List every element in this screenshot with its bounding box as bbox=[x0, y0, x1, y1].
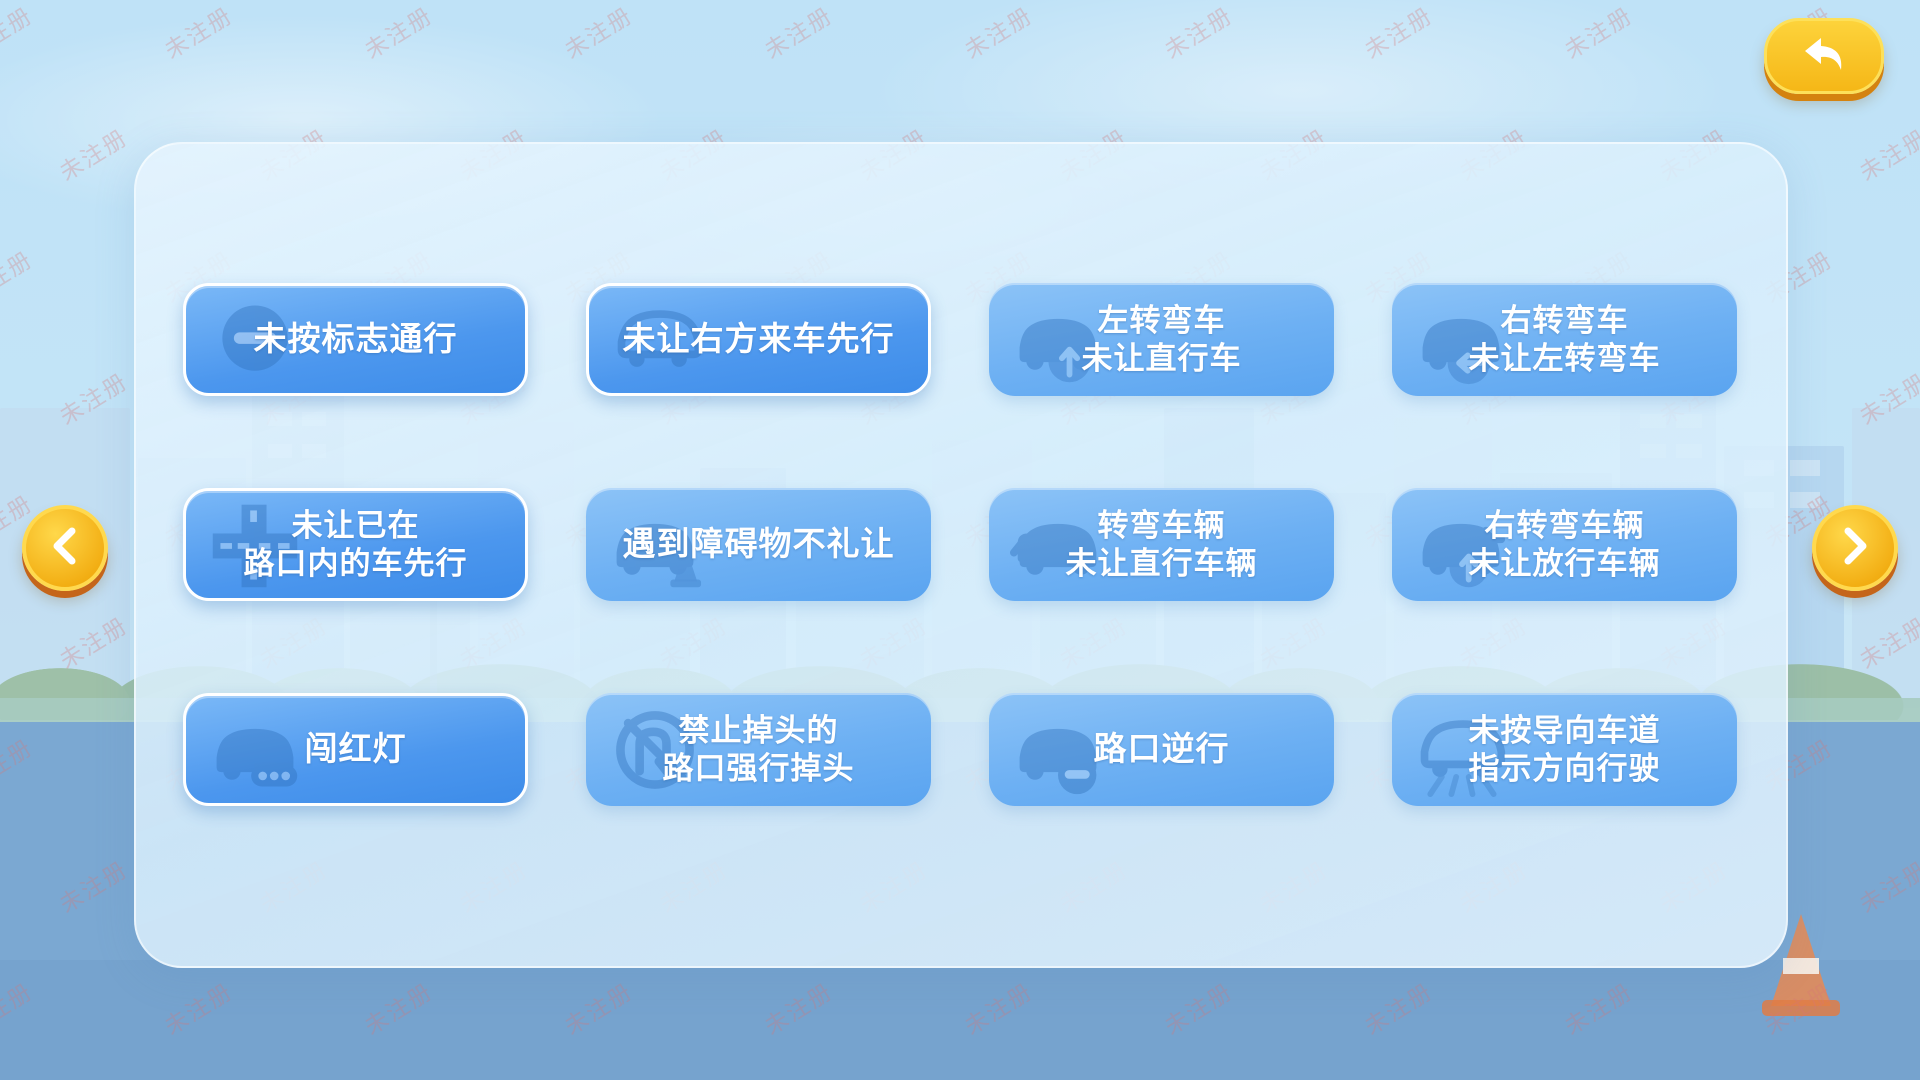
violation-tile-line: 指示方向行驶 bbox=[1469, 750, 1661, 788]
violation-tile-t7[interactable]: 转弯车辆未让直行车辆 bbox=[989, 488, 1334, 601]
violation-tile-line: 未让放行车辆 bbox=[1469, 545, 1661, 583]
violation-tile-label: 路口逆行 bbox=[1088, 729, 1236, 769]
violation-tile-line: 未让右方来车先行 bbox=[623, 319, 895, 359]
back-button[interactable] bbox=[1764, 18, 1884, 94]
violation-tile-label: 禁止掉头的路口强行掉头 bbox=[657, 712, 861, 788]
violation-tile-t11[interactable]: 路口逆行 bbox=[989, 693, 1334, 806]
violation-tile-t5[interactable]: 未让已在路口内的车先行 bbox=[183, 488, 528, 601]
violation-tile-line: 转弯车辆 bbox=[1066, 507, 1258, 545]
car-traffic-light-icon bbox=[196, 702, 314, 798]
violation-tile-line: 禁止掉头的 bbox=[663, 712, 855, 750]
violation-tile-t10[interactable]: 禁止掉头的路口强行掉头 bbox=[586, 693, 931, 806]
violation-tile-line: 闯红灯 bbox=[305, 729, 407, 769]
next-page-button[interactable] bbox=[1812, 505, 1898, 591]
violation-tile-line: 右转弯车辆 bbox=[1469, 507, 1661, 545]
violation-tile-label: 闯红灯 bbox=[299, 729, 413, 769]
violation-tile-line: 路口逆行 bbox=[1094, 729, 1230, 769]
chevron-right-icon bbox=[1838, 526, 1872, 571]
violation-tile-line: 未按标志通行 bbox=[254, 319, 458, 359]
violation-tile-line: 未让左转弯车 bbox=[1469, 340, 1661, 378]
violation-tile-line: 遇到障碍物不礼让 bbox=[623, 524, 895, 564]
violation-tile-line: 路口强行掉头 bbox=[663, 750, 855, 788]
violation-tile-t3[interactable]: 左转弯车未让直行车 bbox=[989, 283, 1334, 396]
chevron-left-icon bbox=[48, 526, 82, 571]
violation-tile-t1[interactable]: 未按标志通行 bbox=[183, 283, 528, 396]
violation-tile-label: 左转弯车未让直行车 bbox=[1076, 302, 1248, 378]
violation-tile-label: 未让已在路口内的车先行 bbox=[238, 507, 474, 583]
violation-tile-line: 路口内的车先行 bbox=[244, 545, 468, 583]
violation-tile-t2[interactable]: 未让右方来车先行 bbox=[586, 283, 931, 396]
violation-tile-t9[interactable]: 闯红灯 bbox=[183, 693, 528, 806]
violation-tile-label: 未按标志通行 bbox=[248, 319, 464, 359]
violation-tile-t8[interactable]: 右转弯车辆未让放行车辆 bbox=[1392, 488, 1737, 601]
violation-tile-line: 左转弯车 bbox=[1082, 302, 1242, 340]
violation-tile-label: 右转弯车未让左转弯车 bbox=[1463, 302, 1667, 378]
violation-tile-t12[interactable]: 未按导向车道指示方向行驶 bbox=[1392, 693, 1737, 806]
violation-type-grid: 未按标志通行未让右方来车先行左转弯车未让直行车右转弯车未让左转弯车未让已在路口内… bbox=[183, 283, 1739, 823]
violation-tile-line: 未按导向车道 bbox=[1469, 712, 1661, 750]
violation-tile-line: 未让直行车辆 bbox=[1066, 545, 1258, 583]
violation-tile-label: 右转弯车辆未让放行车辆 bbox=[1463, 507, 1667, 583]
violation-tile-line: 未让已在 bbox=[244, 507, 468, 545]
violation-tile-label: 转弯车辆未让直行车辆 bbox=[1060, 507, 1264, 583]
violation-tile-label: 未按导向车道指示方向行驶 bbox=[1463, 712, 1667, 788]
violation-tile-t4[interactable]: 右转弯车未让左转弯车 bbox=[1392, 283, 1737, 396]
violation-tile-line: 未让直行车 bbox=[1082, 340, 1242, 378]
violation-tile-label: 未让右方来车先行 bbox=[617, 319, 901, 359]
violation-tile-label: 遇到障碍物不礼让 bbox=[617, 524, 901, 564]
violation-tile-line: 右转弯车 bbox=[1469, 302, 1661, 340]
back-arrow-icon bbox=[1801, 34, 1847, 79]
prev-page-button[interactable] bbox=[22, 505, 108, 591]
violation-tile-t6[interactable]: 遇到障碍物不礼让 bbox=[586, 488, 931, 601]
